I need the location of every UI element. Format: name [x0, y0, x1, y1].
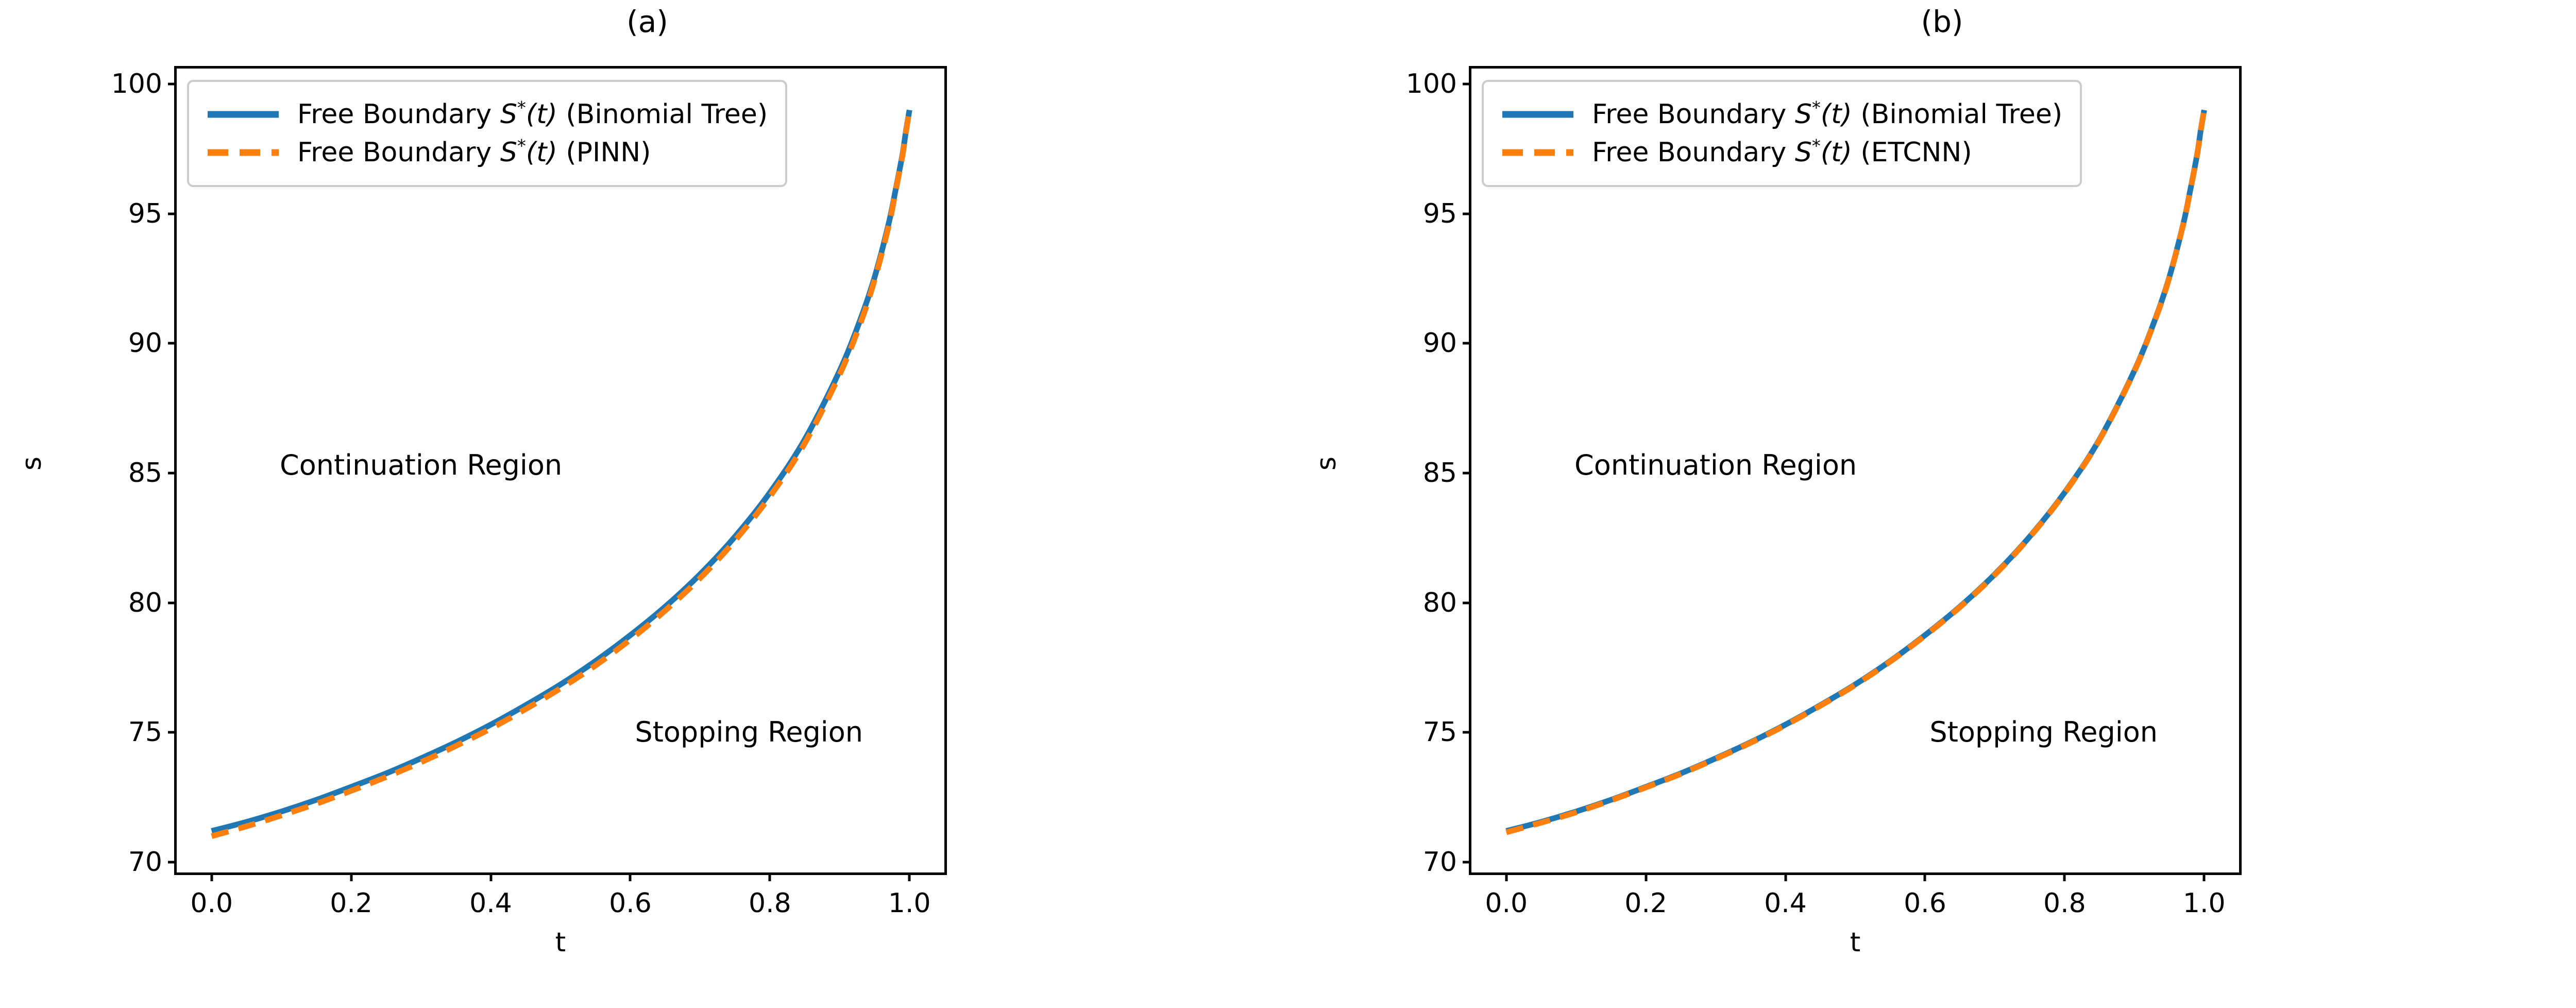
panel-b-title: (b)	[1295, 4, 2576, 39]
y-tick-mark	[168, 601, 177, 604]
legend-item-neural[interactable]: Free Boundary S*(t) (ETCNN)	[1499, 133, 2062, 172]
x-tick-mark	[2063, 872, 2066, 881]
legend-label-neural: Free Boundary S*(t) (PINN)	[297, 138, 651, 167]
x-tick-mark	[629, 872, 632, 881]
x-tick-label: 1.0	[2122, 890, 2286, 917]
y-tick-label: 85	[1265, 460, 1471, 486]
x-tick-mark	[769, 872, 771, 881]
y-tick-label: 95	[1265, 200, 1471, 227]
x-tick-label: 1.0	[827, 890, 992, 917]
annotation-stopping-region: Stopping Region	[1929, 717, 2158, 747]
panel-a-plot-area: Free Boundary S*(t) (Binomial Tree) Free…	[174, 66, 947, 875]
x-tick-mark	[2203, 872, 2206, 881]
figure-canvas: (a) s t Free Boundary S*(t) (Binomial Tr…	[0, 0, 2576, 1008]
y-tick-label: 100	[0, 71, 177, 97]
y-tick-label: 90	[1265, 330, 1471, 357]
y-tick-mark	[168, 212, 177, 215]
y-tick-mark	[168, 731, 177, 734]
annotation-continuation-region: Continuation Region	[280, 450, 562, 480]
y-tick-mark	[168, 342, 177, 345]
y-tick-mark	[168, 472, 177, 475]
y-tick-label: 75	[1265, 719, 1471, 746]
y-tick-label: 80	[1265, 590, 1471, 616]
x-tick-mark	[489, 872, 492, 881]
legend-line-swatch-solid	[1499, 95, 1577, 133]
panel-a-title: (a)	[0, 4, 1295, 39]
panel-a-x-axis-label: t	[174, 928, 947, 957]
panel-a-legend[interactable]: Free Boundary S*(t) (Binomial Tree) Free…	[187, 80, 787, 187]
y-tick-mark	[1463, 861, 1471, 863]
y-tick-label: 70	[1265, 849, 1471, 876]
panel-b-x-axis-label: t	[1469, 928, 2242, 957]
y-tick-mark	[168, 83, 177, 86]
annotation-continuation-region: Continuation Region	[1574, 450, 1857, 480]
legend-item-binomial[interactable]: Free Boundary S*(t) (Binomial Tree)	[205, 95, 768, 133]
y-tick-label: 80	[0, 590, 177, 616]
y-tick-label: 90	[0, 330, 177, 357]
legend-label-binomial: Free Boundary S*(t) (Binomial Tree)	[1592, 100, 2062, 129]
x-tick-mark	[1645, 872, 1647, 881]
y-tick-mark	[1463, 342, 1471, 345]
y-tick-label: 100	[1265, 71, 1471, 97]
x-tick-mark	[908, 872, 911, 881]
x-tick-mark	[1924, 872, 1926, 881]
legend-item-binomial[interactable]: Free Boundary S*(t) (Binomial Tree)	[1499, 95, 2062, 133]
y-tick-label: 85	[0, 460, 177, 486]
legend-line-swatch-dashed	[1499, 133, 1577, 172]
y-tick-label: 75	[0, 719, 177, 746]
y-tick-mark	[1463, 472, 1471, 475]
y-tick-mark	[1463, 83, 1471, 86]
y-tick-label: 70	[0, 849, 177, 876]
legend-item-neural[interactable]: Free Boundary S*(t) (PINN)	[205, 133, 768, 172]
y-tick-mark	[1463, 731, 1471, 734]
panel-a: (a) s t Free Boundary S*(t) (Binomial Tr…	[0, 0, 1295, 1008]
x-tick-mark	[1505, 872, 1507, 881]
y-tick-label: 95	[0, 200, 177, 227]
y-tick-mark	[1463, 212, 1471, 215]
panel-b-legend[interactable]: Free Boundary S*(t) (Binomial Tree) Free…	[1482, 80, 2082, 187]
x-tick-mark	[210, 872, 213, 881]
panel-b-plot-area: Free Boundary S*(t) (Binomial Tree) Free…	[1469, 66, 2242, 875]
x-tick-mark	[350, 872, 352, 881]
x-tick-mark	[1784, 872, 1787, 881]
y-tick-mark	[168, 861, 177, 863]
legend-line-swatch-dashed	[205, 133, 282, 172]
y-tick-mark	[1463, 601, 1471, 604]
panel-b: (b) s t Free Boundary S*(t) (Binomial Tr…	[1295, 0, 2576, 1008]
legend-label-neural: Free Boundary S*(t) (ETCNN)	[1592, 138, 1972, 167]
legend-label-binomial: Free Boundary S*(t) (Binomial Tree)	[297, 100, 768, 129]
annotation-stopping-region: Stopping Region	[635, 717, 863, 747]
legend-line-swatch-solid	[205, 95, 282, 133]
